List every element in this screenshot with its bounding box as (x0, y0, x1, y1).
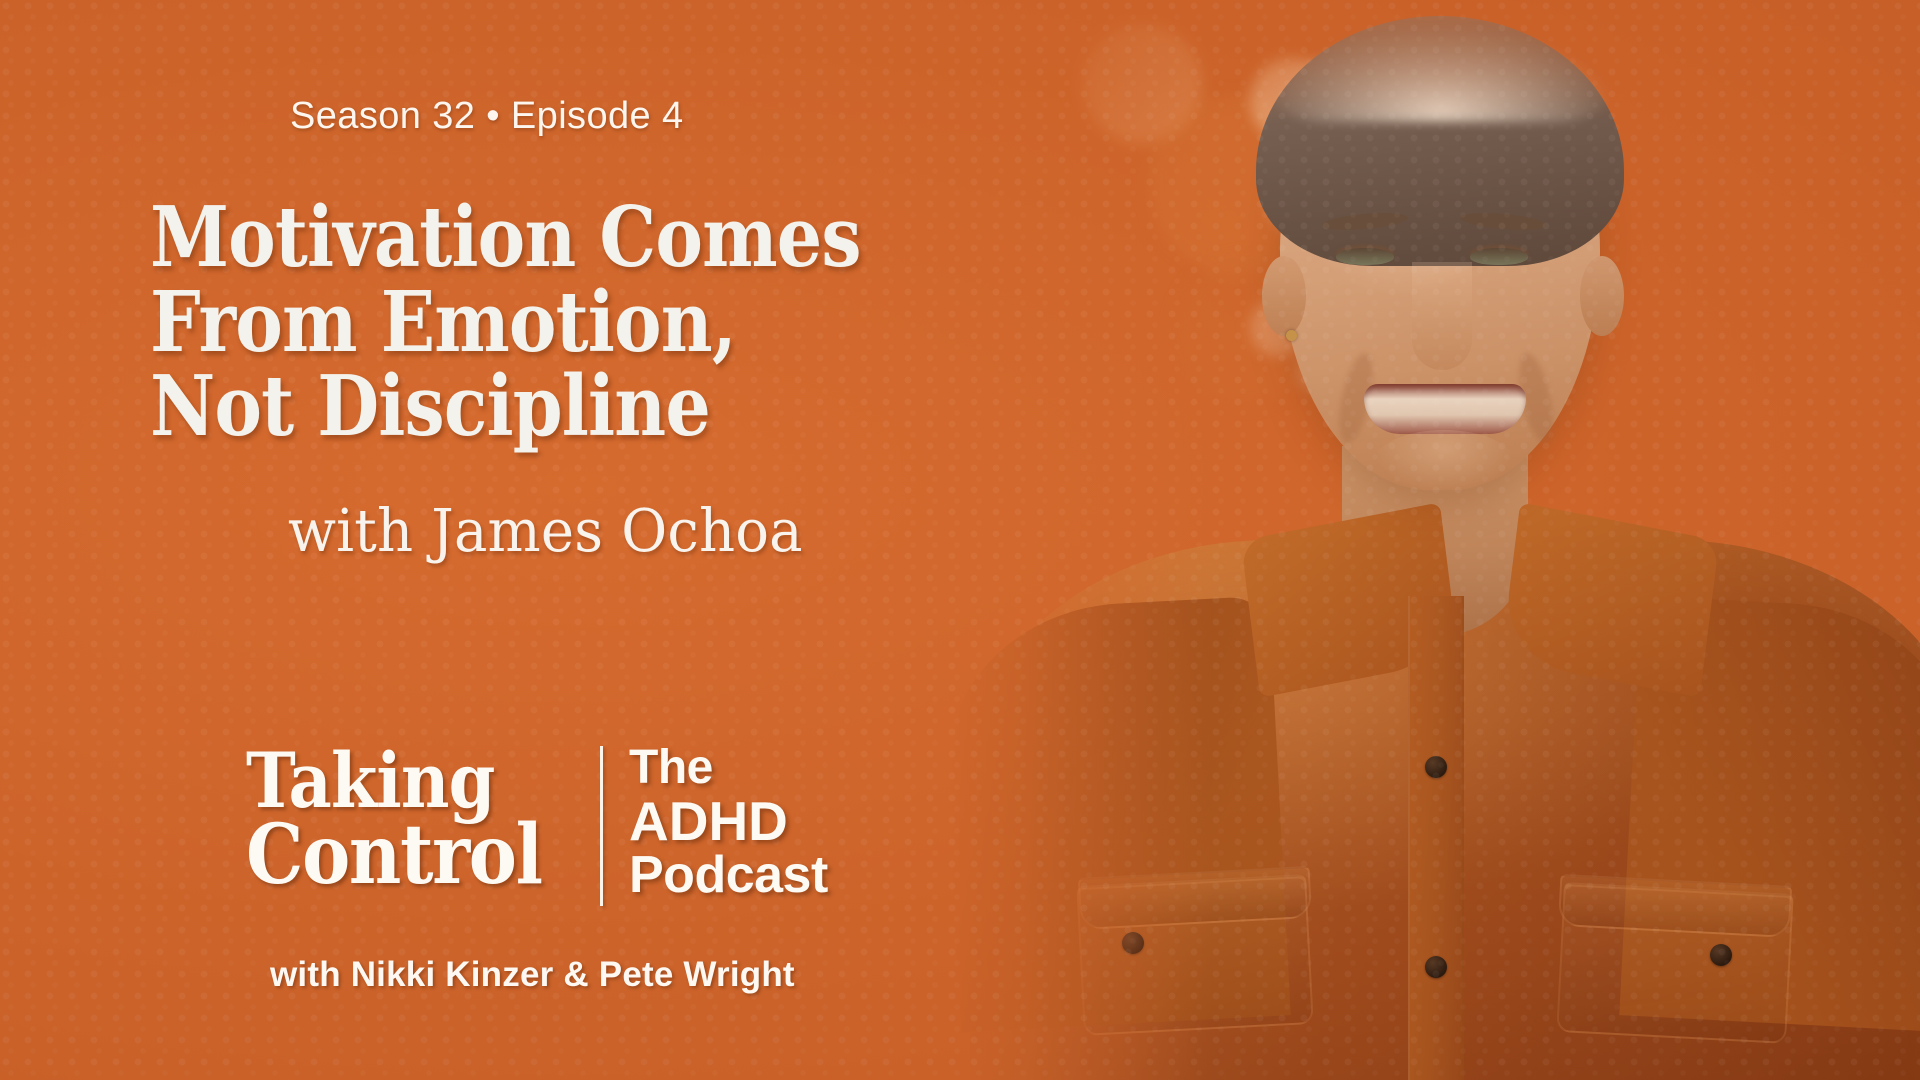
hair-rim-light (1268, 2, 1614, 122)
guest-ear-left (1262, 256, 1306, 336)
tagline-line-2: ADHD (629, 793, 828, 849)
shirt-pocket-button (1122, 932, 1144, 954)
logo-divider (600, 746, 603, 906)
guest-ear-right (1580, 256, 1624, 336)
podcast-show-name: Taking Control (246, 742, 542, 893)
earring-icon (1286, 330, 1297, 341)
episode-title: Motivation Comes From Emotion, Not Disci… (150, 195, 855, 449)
hosts-credit-label: with Nikki Kinzer & Pete Wright (270, 955, 795, 995)
guest-photo-illustration (950, 0, 1920, 1080)
guest-photo (950, 0, 1920, 1080)
podcast-tagline: The ADHD Podcast (629, 742, 828, 902)
episode-title-line-3: Not Discipline (150, 364, 855, 449)
shirt-placket (1408, 596, 1464, 1080)
guest-eye-right (1470, 248, 1528, 265)
show-name-line-2: Control (246, 817, 542, 893)
guest-chin (1374, 430, 1514, 494)
episode-title-line-1: Motivation Comes (150, 195, 855, 280)
season-episode-label: Season 32 • Episode 4 (290, 95, 684, 138)
podcast-cover-art: Season 32 • Episode 4 Motivation Comes F… (0, 0, 1920, 1080)
podcast-logo: Taking Control The ADHD Podcast (246, 742, 828, 906)
guest-mouth (1364, 384, 1526, 434)
guest-credit-label: with James Ochoa (288, 496, 803, 565)
shirt-pocket-button (1710, 944, 1732, 966)
shirt-button (1425, 756, 1447, 778)
guest-eye-left (1336, 248, 1394, 265)
text-column: Season 32 • Episode 4 Motivation Comes F… (0, 0, 1000, 1080)
shirt-button (1425, 956, 1447, 978)
tagline-line-1: The (629, 744, 828, 793)
episode-title-line-2: From Emotion, (150, 280, 855, 365)
guest-nose (1412, 262, 1472, 370)
tagline-line-3: Podcast (629, 849, 828, 902)
